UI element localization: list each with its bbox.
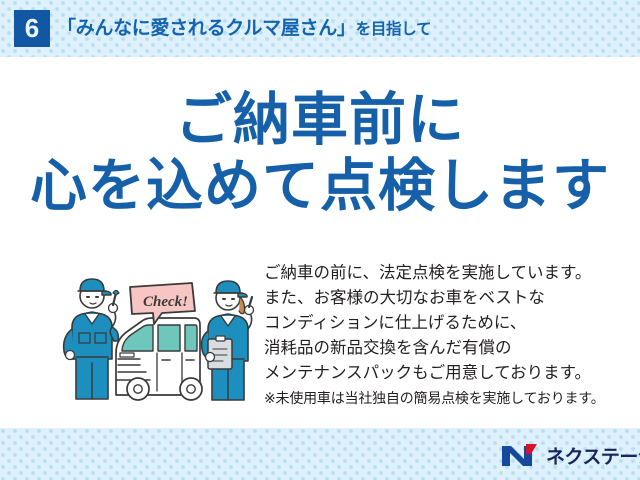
nextage-logo: ネクステージ: [500, 440, 640, 470]
body-copy-block: ご納車の前に、法定点検を実施しています。 また、お客様の大切なお車をベストな コ…: [264, 261, 624, 410]
body-copy-line: また、お客様の大切なお車をベストな: [264, 286, 624, 311]
body-copy-note: ※未使用車は当社独自の簡易点検を実施しております。: [264, 386, 624, 410]
body-copy-line: メンテナンスパックもご用意しております。: [264, 361, 624, 386]
body-copy-line: 消耗品の新品交換を含んだ有償の: [264, 336, 624, 361]
mechanic-male-figure: [64, 279, 119, 399]
main-content-panel: ご納車前に 心を込めて点検します ご納車の前に、法定点検を実施しています。 また…: [0, 57, 640, 428]
body-copy-line: ご納車の前に、法定点検を実施しています。: [264, 261, 624, 286]
nextage-n-mark-icon: [500, 442, 540, 468]
header-title: 「みんなに愛されるクルマ屋さん」を目指して: [57, 13, 431, 45]
promotional-banner: 6 「みんなに愛されるクルマ屋さん」を目指して ご納車前に 心を込めて点検します…: [0, 0, 640, 480]
header-title-quoted: 「みんなに愛されるクルマ屋さん」: [57, 18, 356, 39]
mechanic-female-figure: [202, 281, 254, 400]
header-title-suffix: を目指して: [356, 21, 432, 38]
nextage-logo-text: ネクステージ: [546, 442, 640, 469]
headline-line-1: ご納車前に: [0, 88, 640, 152]
headline-line-2: 心を込めて点検します: [0, 152, 640, 220]
van-graphic: [116, 318, 202, 400]
speech-bubble-label: Check!: [143, 294, 188, 310]
mechanics-van-illustration: Check!: [58, 267, 258, 407]
body-copy-line: コンディションに仕上げるために、: [264, 311, 624, 336]
headline-block: ご納車前に 心を込めて点検します: [0, 88, 640, 220]
section-number-badge: 6: [14, 10, 50, 47]
